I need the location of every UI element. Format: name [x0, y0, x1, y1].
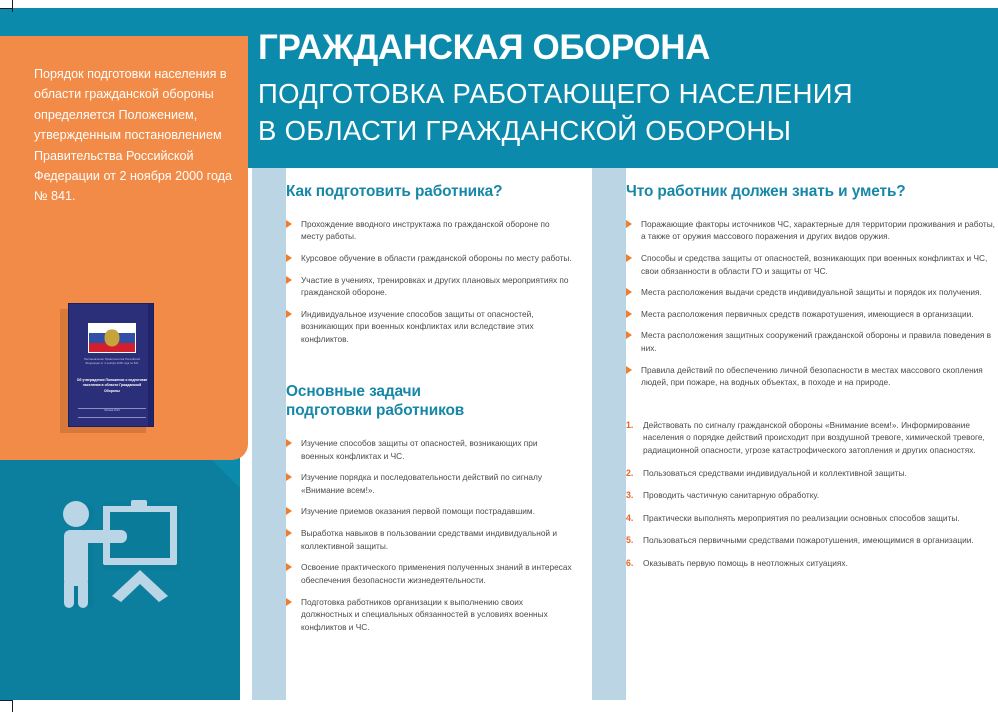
section-heading-main-tasks: Основные задачи подготовки работников [286, 382, 572, 421]
numbered-list-item-text: Оказывать первую помощь в неотложных сит… [643, 558, 848, 568]
list-item: Прохождение вводного инструктажа по граж… [286, 218, 572, 243]
list-item: Места расположения защитных сооружений г… [626, 329, 998, 354]
triangle-bullet-icon [286, 220, 292, 228]
numbered-list-item: 3.Проводить частичную санитарную обработ… [626, 489, 998, 502]
section-heading-how-to-prepare: Как подготовить работника? [286, 182, 572, 202]
book-divider-bottom [78, 417, 146, 418]
list-item-text: Освоение практического применения получе… [301, 562, 572, 585]
left-content-column: Как подготовить работника? Прохождение в… [286, 168, 572, 700]
crop-mark-tl-h [0, 8, 12, 9]
page-title: ГРАЖДАНСКАЯ ОБОРОНА [258, 30, 710, 65]
must-be-able-list: 1.Действовать по сигналу гражданской обо… [626, 419, 998, 570]
russian-flag-icon [88, 323, 136, 353]
list-item: Участие в учениях, тренировках и других … [286, 274, 572, 299]
instructor-presentation-icon [46, 492, 206, 622]
list-item: Места расположения первичных средств пож… [626, 308, 998, 321]
instructor-leg-left [64, 578, 74, 608]
list-item: Изучение способов защиты от опасностей, … [286, 437, 572, 462]
numbered-list-item-text: Действовать по сигналу гражданской оборо… [643, 420, 985, 455]
numbered-list-item: 2.Пользоваться средствами индивидуальной… [626, 467, 998, 480]
list-item-number: 5. [626, 534, 633, 547]
book-cover: Постановление Правительства Российской Ф… [68, 303, 154, 427]
list-item-text: Индивидуальное изучение способов защиты … [301, 309, 534, 344]
instructor-leg-right [78, 578, 88, 608]
list-item: Правила действий по обеспечению личной б… [626, 364, 998, 389]
list-item-text: Поражающие факторы источников ЧС, характ… [641, 219, 995, 242]
list-item-text: Места расположения первичных средств пож… [641, 309, 974, 319]
list-item: Выработка навыков в пользовании средства… [286, 527, 572, 552]
list-item-text: Места расположения выдачи средств индиви… [641, 287, 982, 297]
book-title: Об утверждении Положения о подготовке на… [76, 378, 148, 394]
book-spine [148, 304, 153, 426]
triangle-bullet-icon [286, 529, 292, 537]
list-item: Способы и средства защиты от опасностей,… [626, 252, 998, 277]
list-item-number: 2. [626, 467, 633, 480]
list-item-text: Способы и средства защиты от опасностей,… [641, 253, 987, 276]
list-item-text: Правила действий по обеспечению личной б… [641, 365, 983, 388]
triangle-bullet-icon [626, 331, 632, 339]
list-item-number: 3. [626, 489, 633, 502]
easel-legs [112, 570, 168, 602]
numbered-list-item-text: Практически выполнять мероприятия по реа… [643, 513, 960, 523]
must-know-list: Поражающие факторы источников ЧС, характ… [626, 218, 998, 389]
crop-mark-tl-v [12, 0, 13, 12]
list-item: Поражающие факторы источников ЧС, характ… [626, 218, 998, 243]
right-label-strip [592, 168, 626, 700]
page-subtitle-line1: ПОДГОТОВКА РАБОТАЮЩЕГО НАСЕЛЕНИЯ [258, 76, 988, 113]
list-item-text: Подготовка работников организации к выпо… [301, 597, 548, 632]
list-item-text: Места расположения защитных сооружений г… [641, 330, 991, 353]
how-to-prepare-list: Прохождение вводного инструктажа по граж… [286, 218, 572, 346]
instructor-head [63, 501, 89, 527]
poster-root: Порядок подготовки населения в области г… [0, 0, 998, 715]
numbered-list-item-text: Пользоваться первичными средствами пожар… [643, 535, 974, 545]
triangle-bullet-icon [626, 366, 632, 374]
triangle-bullet-icon [626, 220, 632, 228]
list-item-number: 4. [626, 512, 633, 525]
triangle-bullet-icon [286, 473, 292, 481]
list-item: Подготовка работников организации к выпо… [286, 596, 572, 634]
list-item-text: Курсовое обучение в области гражданской … [301, 253, 572, 263]
triangle-bullet-icon [286, 439, 292, 447]
list-item: Индивидуальное изучение способов защиты … [286, 308, 572, 346]
list-item-number: 6. [626, 557, 633, 570]
book-footer: Москва 2019 [78, 409, 146, 413]
numbered-list-item-text: Проводить частичную санитарную обработку… [643, 490, 819, 500]
left-label-strip [252, 168, 286, 700]
list-item: Освоение практического применения получе… [286, 561, 572, 586]
triangle-bullet-icon [286, 598, 292, 606]
triangle-bullet-icon [626, 288, 632, 296]
list-item-text: Участие в учениях, тренировках и других … [301, 275, 569, 298]
triangle-bullet-icon [286, 563, 292, 571]
main-tasks-heading-line1: Основные задачи [286, 383, 421, 400]
list-item-text: Изучение способов защиты от опасностей, … [301, 438, 538, 461]
numbered-list-item: 1.Действовать по сигналу гражданской обо… [626, 419, 998, 457]
numbered-list-item: 5.Пользоваться первичными средствами пож… [626, 534, 998, 547]
numbered-list-item: 6.Оказывать первую помощь в неотложных с… [626, 557, 998, 570]
numbered-list-item: 4.Практически выполнять мероприятия по р… [626, 512, 998, 525]
list-item-text: Прохождение вводного инструктажа по граж… [301, 219, 550, 242]
triangle-bullet-icon [286, 254, 292, 262]
numbered-list-item-text: Пользоваться средствами индивидуальной и… [643, 468, 907, 478]
list-item: Изучение приемов оказания первой помощи … [286, 505, 572, 518]
law-book-illustration: Постановление Правительства Российской Ф… [68, 303, 154, 427]
list-item-text: Выработка навыков в пользовании средства… [301, 528, 557, 551]
crop-mark-bl-h [0, 700, 12, 701]
book-subtitle: Постановление Правительства Российской Ф… [78, 358, 146, 366]
list-item: Изучение порядка и последовательности де… [286, 471, 572, 496]
triangle-bullet-icon [626, 254, 632, 262]
triangle-bullet-icon [286, 310, 292, 318]
right-content-column: Что работник должен знать и уметь? Пораж… [626, 168, 998, 700]
coat-of-arms-icon [105, 330, 120, 347]
regulation-callout-text: Порядок подготовки населения в области г… [34, 64, 234, 207]
triangle-bullet-icon [626, 310, 632, 318]
list-item-text: Изучение приемов оказания первой помощи … [301, 506, 535, 516]
page-subtitle: ПОДГОТОВКА РАБОТАЮЩЕГО НАСЕЛЕНИЯ В ОБЛАС… [258, 76, 988, 149]
crop-mark-bl-v [12, 700, 13, 712]
list-item: Места расположения выдачи средств индиви… [626, 286, 998, 299]
triangle-bullet-icon [286, 276, 292, 284]
page-subtitle-line2: В ОБЛАСТИ ГРАЖДАНСКОЙ ОБОРОНЫ [258, 113, 988, 150]
main-tasks-list: Изучение способов защиты от опасностей, … [286, 437, 572, 633]
main-tasks-heading-line2: подготовки работников [286, 402, 464, 419]
triangle-bullet-icon [286, 507, 292, 515]
list-item: Курсовое обучение в области гражданской … [286, 252, 572, 265]
list-item-text: Изучение порядка и последовательности де… [301, 472, 542, 495]
list-item-number: 1. [626, 419, 633, 432]
section-heading-know-and-able: Что работник должен знать и уметь? [626, 182, 998, 202]
